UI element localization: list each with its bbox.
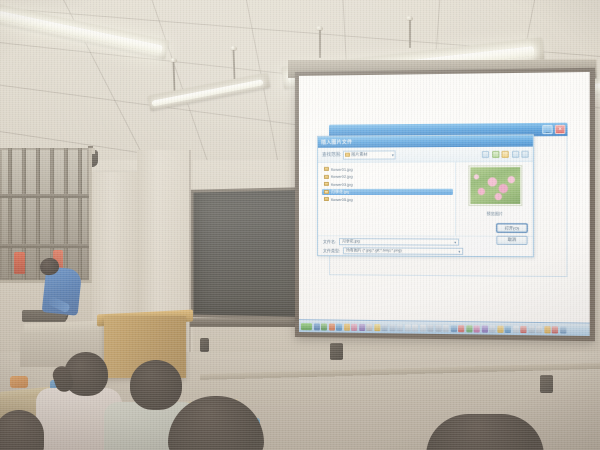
back-icon[interactable] xyxy=(482,150,489,157)
window-bar xyxy=(8,148,12,280)
cancel-button[interactable]: 取消 xyxy=(496,235,527,244)
dialog-buttons[interactable]: 打开(O) 取消 xyxy=(496,223,527,244)
italic-icon[interactable] xyxy=(389,324,395,331)
file-type-label: 文件类型: xyxy=(323,248,340,254)
look-in-group[interactable]: 查找范围: 图片素材 ▾ xyxy=(322,150,396,159)
bold-icon[interactable] xyxy=(381,324,387,331)
media-icon[interactable] xyxy=(359,323,365,330)
background-window-controls[interactable]: _ × xyxy=(542,124,565,133)
ie-icon[interactable] xyxy=(336,323,342,330)
image-file-icon xyxy=(324,167,329,171)
file-type-value: 所有图片 (*.jpg;*.gif;*.bmp;*.png) xyxy=(346,248,402,253)
paint-icon[interactable] xyxy=(351,323,357,330)
line-color-icon[interactable] xyxy=(497,325,503,332)
network-icon[interactable] xyxy=(544,326,550,333)
projector-screen-surface: _ × 插入图片文件 查找范围: 图片素材 xyxy=(299,72,590,336)
image-file-icon xyxy=(324,189,329,193)
ime-icon[interactable] xyxy=(552,326,558,333)
numbering-icon[interactable] xyxy=(435,324,441,331)
new-folder-icon[interactable] xyxy=(502,150,509,157)
start-icon[interactable] xyxy=(301,323,312,330)
clock-icon[interactable] xyxy=(560,326,566,333)
student-far-right xyxy=(426,414,544,450)
file-name-value: 月季花.jpg xyxy=(342,239,360,244)
window-bar xyxy=(36,148,40,280)
file-name-label: 文件名: xyxy=(323,239,336,245)
align-right-icon[interactable] xyxy=(420,324,426,331)
list-item[interactable]: flower02.jpg xyxy=(322,173,453,179)
dialog-toolbar[interactable]: 查找范围: 图片素材 ▾ xyxy=(318,147,533,163)
align-center-icon[interactable] xyxy=(412,324,418,331)
file-name: 月季花.jpg xyxy=(331,188,350,194)
folder-icon[interactable] xyxy=(344,323,350,330)
wall-speaker-center xyxy=(330,343,343,360)
fill-color-icon[interactable] xyxy=(505,325,511,332)
file-name: flower02.jpg xyxy=(331,174,353,179)
chevron-down-icon[interactable]: ▾ xyxy=(454,240,456,244)
dialog-toolbar-icons[interactable] xyxy=(482,150,529,157)
file-type-select[interactable]: 所有图片 (*.jpg;*.gif;*.bmp;*.png) ▾ xyxy=(343,247,463,255)
taskbar[interactable] xyxy=(299,319,590,336)
chart-icon[interactable] xyxy=(458,325,464,332)
chevron-down-icon[interactable]: ▾ xyxy=(458,249,460,253)
folder-icon xyxy=(345,153,350,157)
mail-icon[interactable] xyxy=(366,323,372,330)
file-name: flower03.jpg xyxy=(331,181,353,186)
flower-photo xyxy=(470,167,520,204)
powerpoint-icon[interactable] xyxy=(328,323,334,330)
look-in-combo[interactable]: 图片素材 ▾ xyxy=(343,150,396,159)
wall-speaker-board-edge xyxy=(200,338,209,352)
look-in-value: 图片素材 xyxy=(351,152,367,158)
minimize-icon[interactable]: _ xyxy=(542,124,552,133)
preview-caption: 预览图片 xyxy=(486,211,503,217)
list-item[interactable]: flower05.jpg xyxy=(322,196,453,202)
image-icon[interactable] xyxy=(466,325,472,332)
close-icon[interactable]: × xyxy=(555,124,566,133)
file-name: flower01.jpg xyxy=(331,166,353,171)
window-bar xyxy=(78,148,82,280)
list-item[interactable]: flower01.jpg xyxy=(322,165,453,172)
wall-speaker-right xyxy=(540,375,553,393)
student-head xyxy=(168,396,264,450)
projected-desktop: _ × 插入图片文件 查找范围: 图片素材 xyxy=(299,72,590,336)
indent-icon[interactable] xyxy=(443,324,449,331)
look-in-label: 查找范围: xyxy=(322,152,341,158)
file-type-row[interactable]: 文件类型: 所有图片 (*.jpg;*.gif;*.bmp;*.png) ▾ xyxy=(323,247,529,255)
window-bar-horizontal xyxy=(0,194,89,198)
wordart-icon[interactable] xyxy=(481,325,487,332)
window-bar xyxy=(64,148,68,280)
table-icon[interactable] xyxy=(450,324,456,331)
file-name-input[interactable]: 月季花.jpg ▾ xyxy=(339,238,459,246)
excel-icon[interactable] xyxy=(321,323,327,330)
classroom-photo: _ × 插入图片文件 查找范围: 图片素材 xyxy=(0,0,600,450)
dialog-footer: 文件名: 月季花.jpg ▾ 文件类型: 所有图片 (*.jpg;*.gif;*… xyxy=(318,235,533,256)
image-file-icon xyxy=(324,174,329,178)
image-file-icon xyxy=(324,182,329,186)
file-name: flower05.jpg xyxy=(331,196,353,201)
student-head xyxy=(0,410,44,450)
font-icon[interactable] xyxy=(374,323,380,330)
projector-screen-frame: _ × 插入图片文件 查找范围: 图片素材 xyxy=(295,68,595,342)
insert-picture-dialog[interactable]: 插入图片文件 查找范围: 图片素材 ▾ xyxy=(317,134,534,257)
sill-object-red-1 xyxy=(14,252,25,274)
dialog-title: 插入图片文件 xyxy=(321,139,352,146)
help-icon[interactable] xyxy=(520,325,526,332)
views-icon[interactable] xyxy=(511,150,518,157)
student-back-left xyxy=(0,410,48,450)
preview-thumbnail xyxy=(468,165,522,206)
volume-icon[interactable] xyxy=(536,326,542,333)
image-file-icon xyxy=(324,197,329,201)
file-list[interactable]: flower01.jpg flower02.jpg flower03.jpg xyxy=(318,162,456,235)
open-button[interactable]: 打开(O) xyxy=(496,223,527,232)
list-item[interactable]: flower03.jpg xyxy=(322,181,453,187)
bullets-icon[interactable] xyxy=(427,324,433,331)
chevron-down-icon[interactable]: ▾ xyxy=(392,152,394,157)
window-bar-horizontal xyxy=(0,244,89,248)
word-icon[interactable] xyxy=(313,323,319,330)
textbox-icon[interactable] xyxy=(474,325,480,332)
underline-icon[interactable] xyxy=(397,324,403,331)
shapes-icon[interactable] xyxy=(489,325,495,332)
zoom-icon[interactable] xyxy=(512,325,518,332)
student-head xyxy=(426,414,544,450)
light-fixture-center-left xyxy=(148,58,278,120)
student-front-right xyxy=(168,396,264,450)
align-left-icon[interactable] xyxy=(404,324,410,331)
delete-icon[interactable] xyxy=(521,150,528,157)
list-item-selected[interactable]: 月季花.jpg xyxy=(322,188,453,194)
light-fixture-far-left xyxy=(0,16,180,56)
pencil-case xyxy=(10,376,28,388)
up-one-level-icon[interactable] xyxy=(492,150,499,157)
search-icon[interactable] xyxy=(528,325,534,332)
